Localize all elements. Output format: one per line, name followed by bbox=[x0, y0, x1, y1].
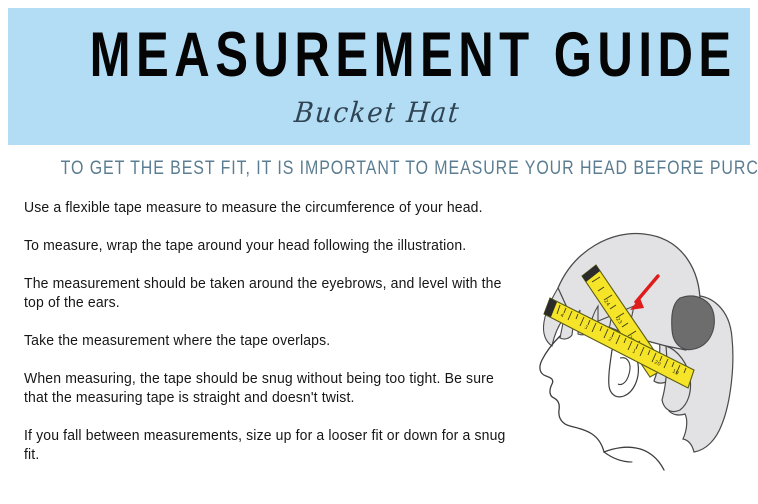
product-subtitle: Bucket Hat bbox=[34, 96, 720, 130]
header-band: MEASUREMENT GUIDE Bucket Hat bbox=[8, 8, 750, 145]
sub-heading: TO GET THE BEST FIT, IT IS IMPORTANT TO … bbox=[61, 158, 698, 180]
instructions-list: Use a flexible tape measure to measure t… bbox=[24, 199, 532, 465]
instruction-paragraph: If you fall between measurements, size u… bbox=[24, 427, 512, 465]
instruction-paragraph: When measuring, the tape should be snug … bbox=[24, 370, 512, 408]
measurement-guide-page: MEASUREMENT GUIDE Bucket Hat TO GET THE … bbox=[0, 0, 758, 504]
instruction-paragraph: The measurement should be taken around t… bbox=[24, 275, 512, 313]
instruction-paragraph: To measure, wrap the tape around your he… bbox=[24, 237, 512, 256]
instruction-paragraph: Use a flexible tape measure to measure t… bbox=[24, 199, 512, 218]
page-title: MEASUREMENT GUIDE bbox=[90, 22, 669, 88]
head-measurement-illustration: 24 23 22 21 bbox=[516, 218, 758, 504]
instruction-paragraph: Take the measurement where the tape over… bbox=[24, 332, 512, 351]
